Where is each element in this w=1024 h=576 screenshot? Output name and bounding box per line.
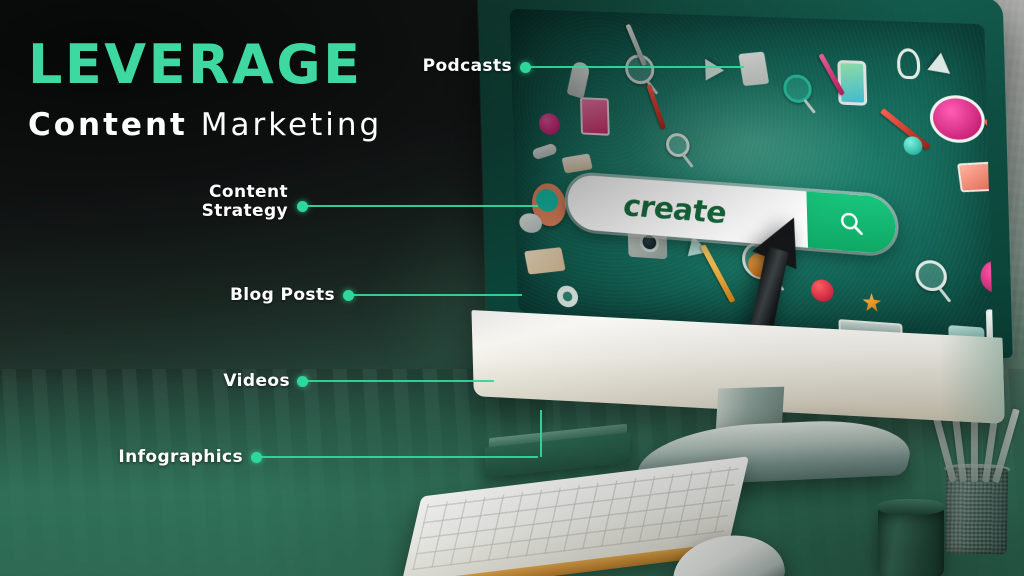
callout-label-videos[interactable]: Videos <box>40 372 290 391</box>
callout-line-bend-infographics <box>540 410 542 457</box>
callout-list: PodcastsContent StrategyBlog PostsVideos… <box>0 0 1024 576</box>
callout-label-infographics[interactable]: Infographics <box>0 448 243 467</box>
callout-line-content-strategy <box>306 205 538 207</box>
callout-label-blog-posts[interactable]: Blog Posts <box>80 286 335 305</box>
callout-line-blog-posts <box>352 294 522 296</box>
callout-label-podcasts[interactable]: Podcasts <box>250 57 512 76</box>
callout-label-content-strategy[interactable]: Content Strategy <box>40 183 288 221</box>
callout-line-podcasts <box>529 66 744 68</box>
callout-line-infographics <box>260 456 538 458</box>
callout-line-videos <box>306 380 494 382</box>
poster-canvas: create <box>0 0 1024 576</box>
